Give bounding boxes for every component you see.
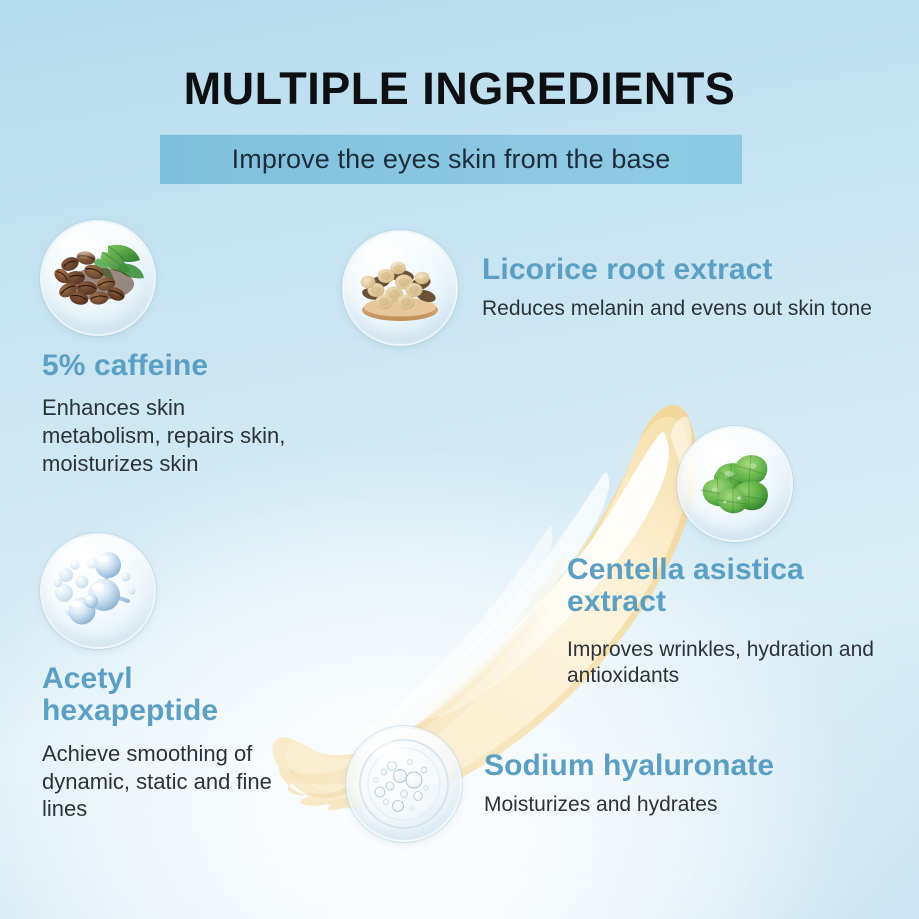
coffee-beans-icon [42,222,154,334]
ingredient-heading-licorice: Licorice root extract [482,254,902,286]
molecule-icon [42,535,154,647]
page-title: MULTIPLE INGREDIENTS [0,60,919,118]
ingredient-heading-sodium: Sodium hyaluronate [484,750,864,782]
ingredient-block-acetyl: Acetyl hexapeptide Achieve smoothing of … [42,535,302,823]
ingredient-heading-acetyl: Acetyl hexapeptide [42,663,302,728]
ingredient-description-acetyl: Achieve smoothing of dynamic, static and… [42,740,302,823]
subtitle-banner: Improve the eyes skin from the base [160,134,742,184]
subtitle-text: Improve the eyes skin from the base [232,144,671,175]
ingredient-description-centella: Improves wrinkles, hydration and antioxi… [567,637,897,690]
ingredient-description-sodium: Moisturizes and hydrates [484,792,864,818]
ingredient-heading-caffeine: 5% caffeine [42,350,304,382]
ingredient-block-sodium: Sodium hyaluronate Moisturizes and hydra… [348,728,848,840]
icon-wrapper-centella [679,428,897,540]
ingredient-heading-centella: Centella asistica extract [567,554,897,619]
icon-wrapper-acetyl [42,535,302,647]
ingredient-block-caffeine: 5% caffeine Enhances skin metabolism, re… [42,222,304,478]
ingredients-infographic: MULTIPLE INGREDIENTS Improve the eyes sk… [0,0,919,919]
text-column-licorice: Licorice root extract Reduces melanin an… [482,254,902,323]
ingredient-block-licorice: Licorice root extract Reduces melanin an… [344,232,904,344]
centella-leaves-icon [679,428,791,540]
ingredient-description-licorice: Reduces melanin and evens out skin tone [482,296,902,322]
icon-wrapper-caffeine [42,222,304,334]
ingredient-description-caffeine: Enhances skin metabolism, repairs skin, … [42,394,304,477]
text-column-sodium: Sodium hyaluronate Moisturizes and hydra… [484,750,864,819]
licorice-root-slices-icon [344,232,456,344]
ingredient-block-centella: Centella asistica extract Improves wrink… [567,428,897,690]
gel-bubbles-icon [348,728,460,840]
